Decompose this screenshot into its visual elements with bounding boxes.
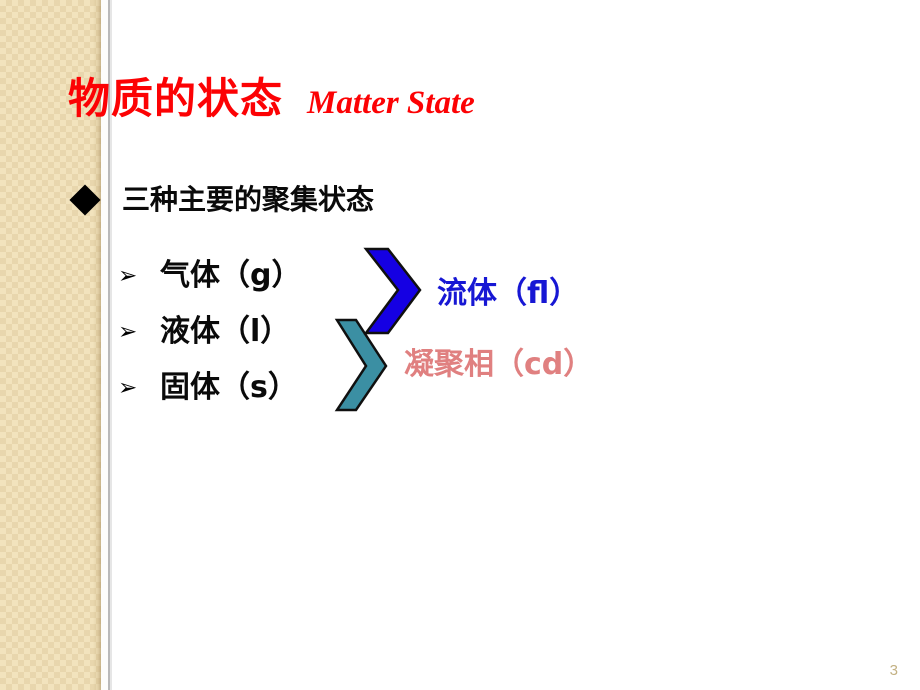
slide-title-english: Matter State xyxy=(307,87,475,120)
list-item: ➢ 固体（s） xyxy=(118,360,301,416)
list-item-label: 液体（l） xyxy=(160,317,290,347)
list-item-label: 固体（s） xyxy=(160,373,298,403)
section-heading: 三种主要的聚集状态 xyxy=(74,186,374,214)
slide-canvas: 物质的状态 Matter State 三种主要的聚集状态 ➢ 气体（g） ➢ 液… xyxy=(0,0,920,690)
slide-title-chinese: 物质的状态 xyxy=(68,78,283,120)
arrow-bullet-icon: ➢ xyxy=(118,377,144,400)
list-item: ➢ 气体（g） xyxy=(118,248,301,304)
group-label-condensed: 凝聚相（cd） xyxy=(404,350,593,380)
slide-title: 物质的状态 Matter State xyxy=(68,78,475,120)
chevron-blue-icon xyxy=(360,246,424,336)
group-label-fluid: 流体（fl） xyxy=(437,279,579,309)
list-item-label: 气体（g） xyxy=(160,261,301,291)
arrow-bullet-icon: ➢ xyxy=(118,265,144,288)
list-item: ➢ 液体（l） xyxy=(118,304,301,360)
section-heading-label: 三种主要的聚集状态 xyxy=(122,186,374,214)
diamond-bullet-icon xyxy=(69,184,100,215)
arrow-bullet-icon: ➢ xyxy=(118,321,144,344)
page-number: 3 xyxy=(890,663,898,678)
state-list: ➢ 气体（g） ➢ 液体（l） ➢ 固体（s） xyxy=(118,248,301,416)
